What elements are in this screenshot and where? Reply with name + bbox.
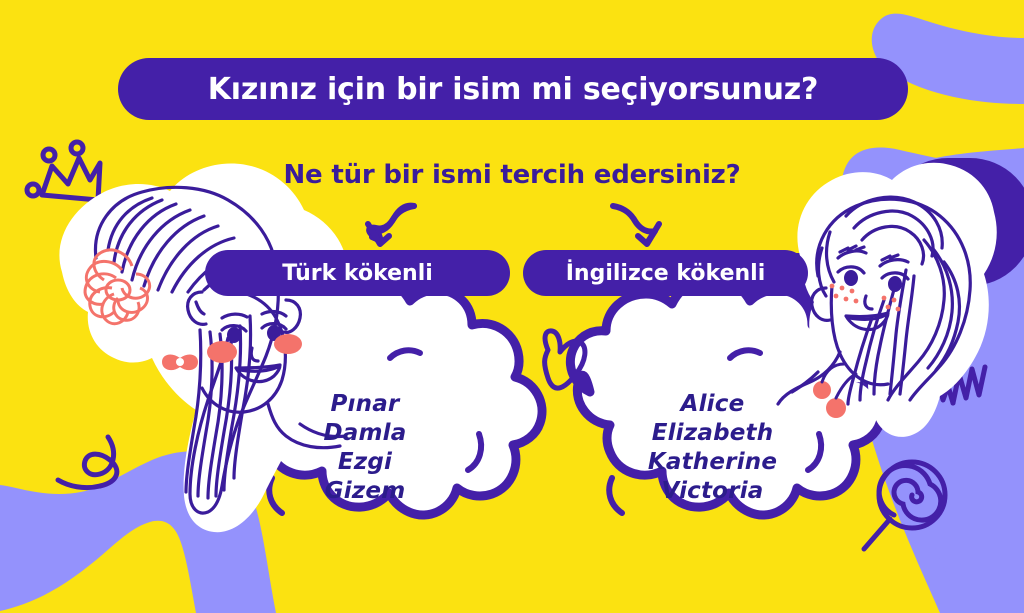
- poster-canvas: Kızınız için bir isim mi seçiyorsunuz? N…: [0, 0, 1024, 613]
- option-label-turkish: Türk kökenli: [282, 261, 433, 286]
- subtitle-question: Ne tür bir ismi tercih edersiniz?: [0, 160, 1024, 190]
- option-button-turkish[interactable]: Türk kökenli: [205, 250, 510, 296]
- name-list-english: Alice Elizabeth Katherine Victoria: [595, 390, 830, 506]
- name-item: Victoria: [595, 477, 830, 506]
- option-button-english[interactable]: İngilizce kökenli: [523, 250, 808, 296]
- title-pill: Kızınız için bir isim mi seçiyorsunuz?: [118, 58, 908, 120]
- option-label-english: İngilizce kökenli: [566, 261, 766, 286]
- name-item: Katherine: [595, 448, 830, 477]
- name-item: Pınar: [255, 390, 475, 419]
- cheek-blush-right: [274, 334, 302, 354]
- name-item: Elizabeth: [595, 419, 830, 448]
- cheek-blush-left: [207, 341, 237, 363]
- page-title: Kızınız için bir isim mi seçiyorsunuz?: [208, 72, 819, 107]
- name-list-turkish: Pınar Damla Ezgi Gizem: [255, 390, 475, 506]
- name-item: Ezgi: [255, 448, 475, 477]
- name-item: Gizem: [255, 477, 475, 506]
- name-item: Damla: [255, 419, 475, 448]
- name-item: Alice: [595, 390, 830, 419]
